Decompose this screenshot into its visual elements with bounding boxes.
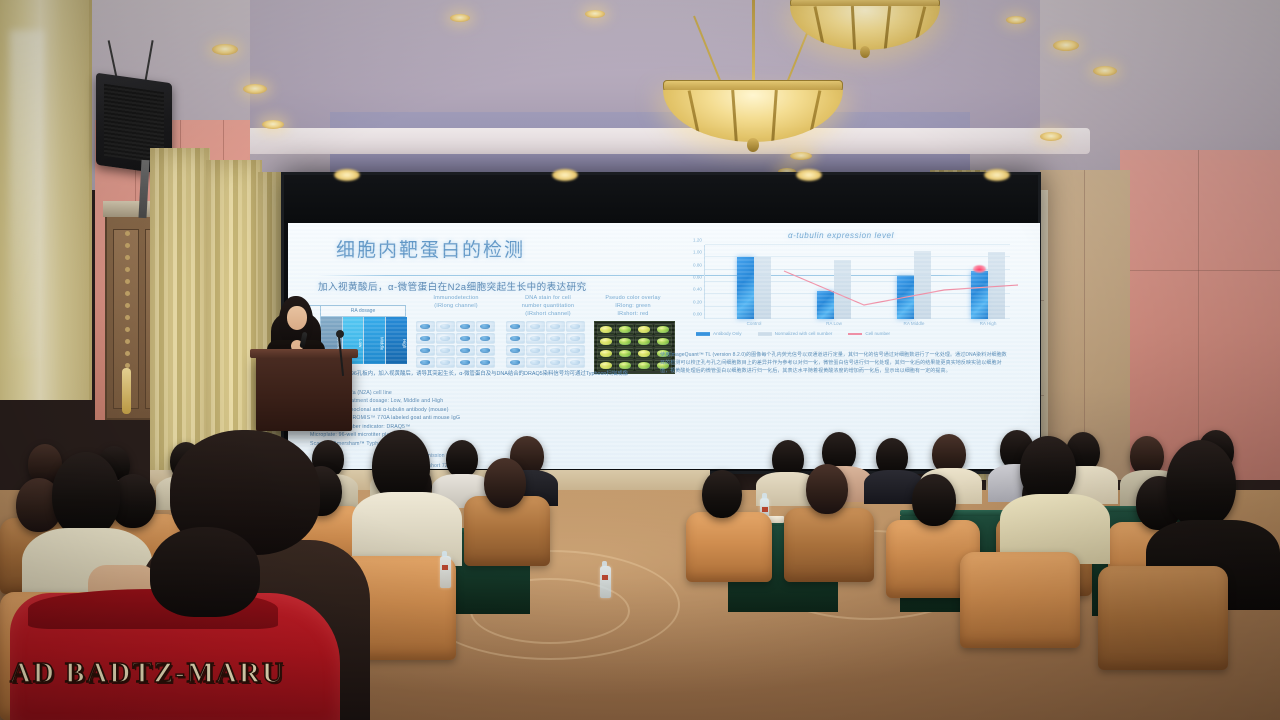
bar-normalized	[988, 252, 1005, 319]
y-tick: 1.00	[693, 250, 702, 255]
presenter-face	[287, 306, 307, 330]
bar-antibody-only	[737, 257, 754, 319]
bullet-item: Retinoid (RA) treatment dosage: Low, Mid…	[310, 397, 640, 405]
dosage-col-header: RA dosage	[321, 306, 405, 317]
ceiling-downlight	[1040, 132, 1062, 141]
chandelier-wire	[693, 16, 722, 84]
wall-panel-pink-right	[1120, 150, 1280, 480]
screen-toplight	[796, 169, 822, 181]
audience-chair[interactable]	[784, 508, 874, 582]
x-tick-label: RA High	[971, 321, 1005, 326]
slide-title: 细胞内靶蛋白的检测	[336, 235, 525, 262]
ceiling-downlight	[243, 84, 267, 94]
ceiling-downlight	[790, 152, 812, 160]
legend-swatch-blue	[696, 332, 710, 336]
chandelier-rod	[752, 0, 755, 82]
well-grid-dna-stain	[506, 321, 585, 368]
legend-item-cell-number: Cell number	[848, 331, 890, 336]
ceiling-downlight	[1093, 66, 1117, 76]
screen-toplight	[334, 169, 360, 181]
legend-swatch-pink	[848, 333, 862, 335]
bullet-item: Cell line: Neuro-2a (N2A) cell line	[310, 389, 640, 397]
screen-header-dark	[284, 175, 1038, 223]
curtain-left	[150, 148, 210, 478]
ceiling-downlight	[212, 44, 238, 55]
audience-chair[interactable]	[686, 512, 772, 582]
ceiling-downlight	[1006, 16, 1026, 24]
bar-normalized	[754, 257, 771, 319]
audience-head	[1166, 440, 1236, 528]
legend-swatch-gray	[758, 332, 772, 336]
audience-chair[interactable]	[960, 552, 1080, 648]
water-bottle	[440, 556, 451, 588]
bullet-item: 2nd antibody: CHROMIS™ 770A labeled goat…	[310, 414, 640, 422]
ceiling-downlight	[262, 120, 284, 129]
y-tick: 0.20	[693, 299, 702, 304]
slide-subtitle: 加入视黄酸后，α-微管蛋白在N2a细胞突起生长中的表达研究	[318, 279, 587, 293]
audience-head	[446, 440, 478, 478]
foreground-head	[150, 527, 260, 617]
ceiling-downlight	[1053, 40, 1079, 51]
chart-note-cn: 使用ImageQuant™ TL (version 8.2.0)的图像每个孔内荧…	[660, 351, 1010, 375]
ceiling-cove-molding	[210, 128, 1090, 154]
conference-hall-photo: 细胞内靶蛋白的检测 加入视黄酸后，α-微管蛋白在N2a细胞突起生长中的表达研究 …	[0, 0, 1280, 720]
chart-title: α-tubulin expression level	[666, 231, 1016, 240]
chandelier-bowl	[790, 6, 940, 50]
y-tick: 0.80	[693, 262, 702, 267]
projection-screen: 细胞内靶蛋白的检测 加入视黄酸后，α-微管蛋白在N2a细胞突起生长中的表达研究 …	[281, 172, 1041, 474]
x-tick-label: RA Middle	[897, 321, 931, 326]
screen-toplight	[984, 169, 1010, 181]
mic-head-icon	[336, 330, 344, 338]
foreground-person-red-shirt: AD BADTZ-MARU	[10, 545, 340, 720]
chandelier-bowl	[663, 90, 843, 142]
well-grid-immunodetection	[416, 321, 495, 368]
bar-group-ra-low: RA Low	[817, 245, 851, 319]
audience-head	[1020, 436, 1076, 502]
audience-head	[912, 474, 956, 526]
x-tick-label: RA Low	[817, 321, 851, 326]
audience-head	[484, 458, 526, 508]
chandelier-finial	[860, 46, 870, 58]
bar-group-control: Control	[737, 245, 771, 319]
panel-caption-pseudo-color: Pseudo color overlay IRlong: green IRsho…	[594, 295, 672, 319]
bar-antibody-only	[897, 276, 914, 319]
y-tick: 0.40	[693, 287, 702, 292]
screen-toplight	[552, 169, 578, 181]
shirt-text: AD BADTZ-MARU	[10, 657, 340, 690]
dosage-cell-middle: Middle	[364, 317, 386, 364]
panel-caption-dna-stain: DNA stain for cell number quantitation (…	[506, 295, 590, 319]
x-tick-label: Control	[737, 321, 771, 326]
water-bottle	[600, 566, 611, 598]
bar-antibody-only	[971, 271, 988, 319]
bullet-item: 1st antibody: monoclonal anti α-tubulin …	[310, 406, 640, 414]
ceiling-downlight	[585, 10, 605, 18]
y-tick: 1.20	[693, 238, 702, 243]
highlight-marker	[973, 265, 986, 273]
chandelier-secondary	[790, 0, 940, 70]
audience-chair[interactable]	[1098, 566, 1228, 670]
dosage-cell-high: High	[386, 317, 408, 364]
podium	[256, 355, 352, 431]
chart-legend: Antibody Only Normalized with cell numbe…	[696, 331, 1016, 336]
panel-caption-immunodetection: Immunodetection (IRlong channel)	[416, 295, 496, 311]
bar-group-ra-middle: RA Middle	[897, 245, 931, 319]
audience-head	[52, 452, 120, 538]
slide-annotation-cn: 将N2A细胞接种于96孔板内，加入视黄酸后，诱导其突起生长，α-微管蛋白及与DN…	[308, 370, 648, 378]
bar-normalized	[914, 251, 931, 319]
legend-item-normalized: Normalized with cell number	[758, 331, 833, 336]
ceiling-downlight	[450, 14, 470, 22]
chart-plot-area: 0.00 0.20 0.40 0.60 0.80 1.00 1.20 Contr…	[704, 245, 1010, 319]
column-sheen	[10, 30, 44, 360]
audience-head	[702, 470, 742, 518]
wall-column-left	[0, 0, 92, 400]
y-tick: 0.00	[693, 312, 702, 317]
y-tick: 0.60	[693, 275, 702, 280]
chandelier-finial	[747, 138, 759, 152]
bar-normalized	[834, 260, 851, 319]
bar-group-ra-high: RA High	[971, 245, 1005, 319]
tubulin-expression-chart: α-tubulin expression level 0.00 0.20 0.4…	[666, 231, 1016, 343]
audience-head	[806, 464, 848, 514]
bar-antibody-only	[817, 291, 834, 319]
legend-item-antibody-only: Antibody Only	[696, 331, 742, 336]
